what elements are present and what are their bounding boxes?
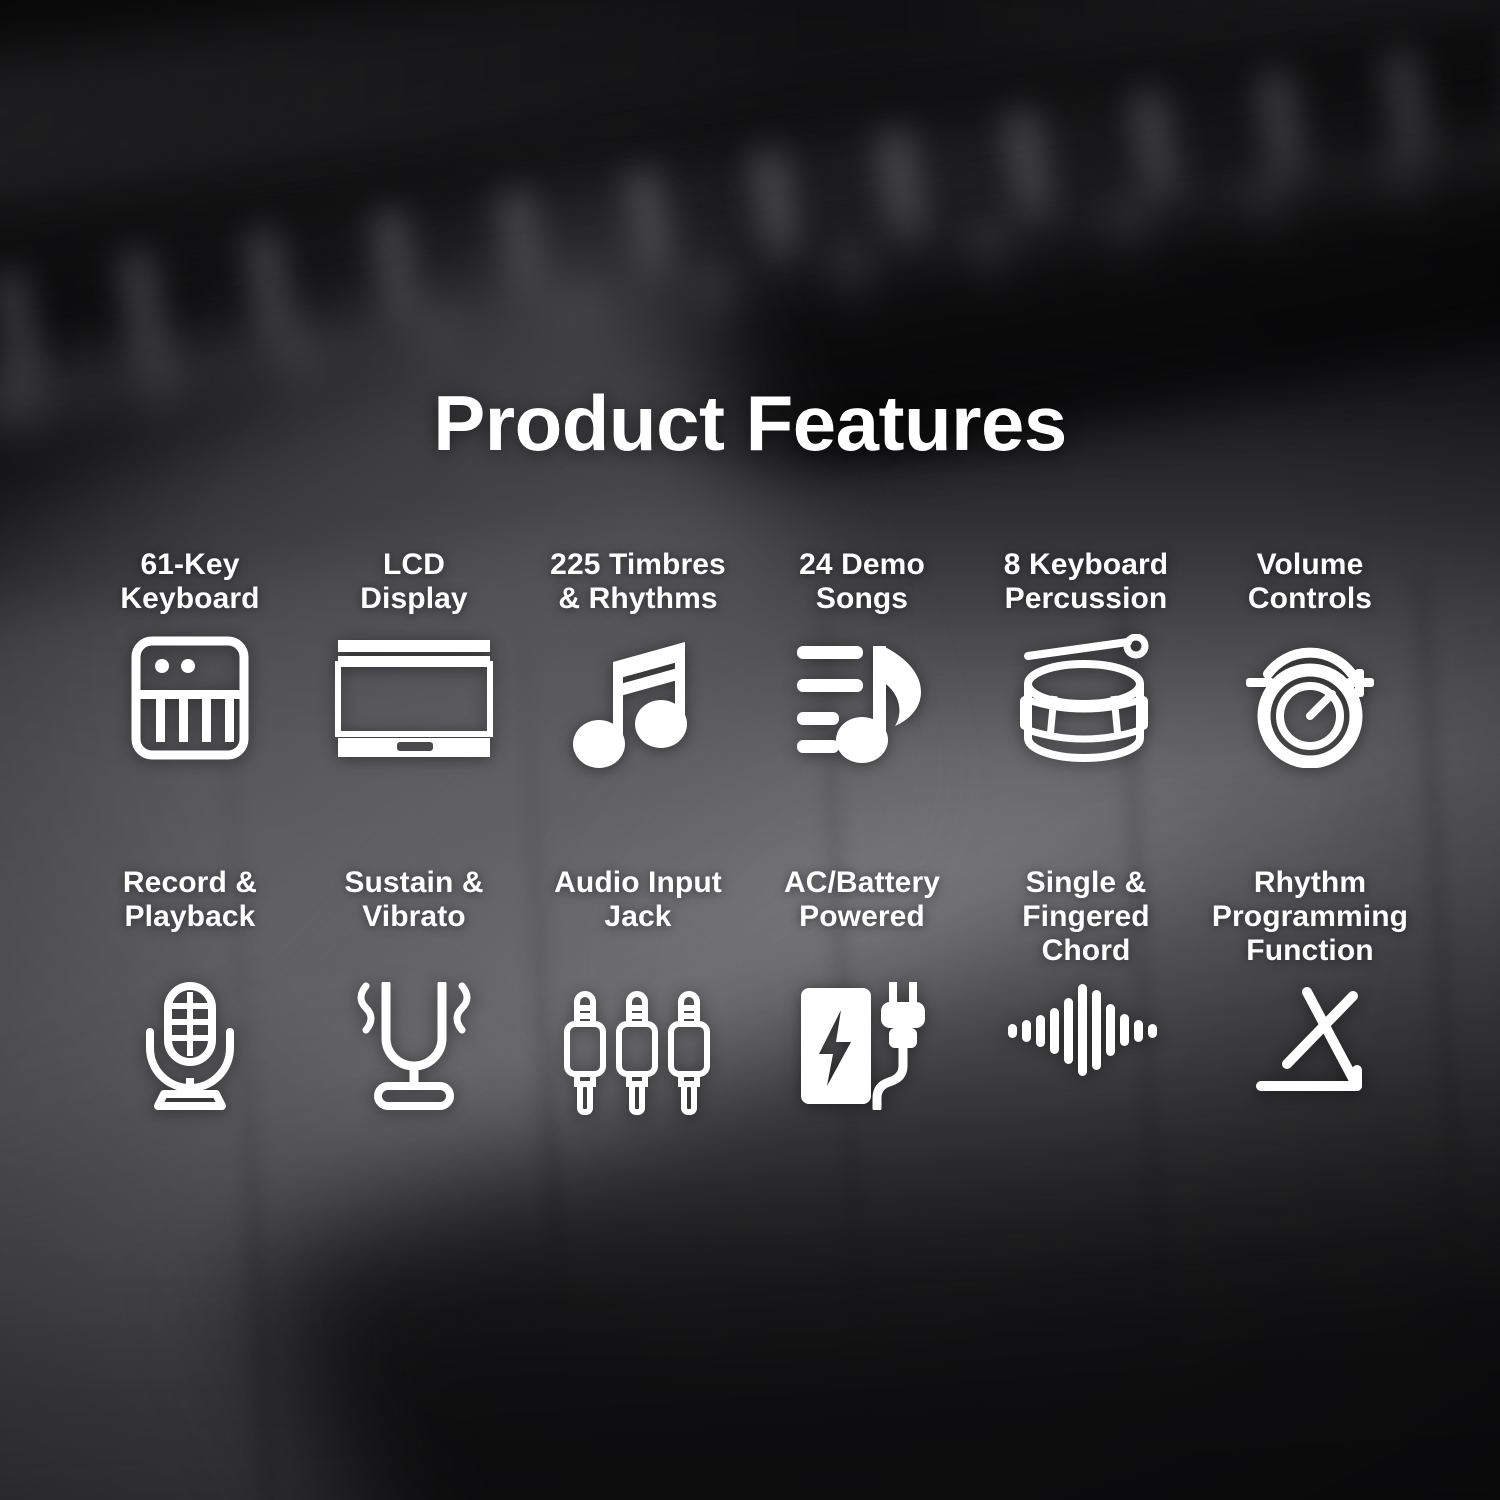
piano-keyboard-icon bbox=[129, 634, 251, 784]
page-title: Product Features bbox=[0, 378, 1500, 469]
triangle-instrument-icon bbox=[1249, 982, 1371, 1132]
feature-item-keyboard-percussion: 8 Keyboard Percussion bbox=[974, 548, 1198, 784]
feature-grid-row-1: 61-Key Keyboard bbox=[78, 548, 1422, 784]
feature-label: Volume Controls bbox=[1248, 548, 1372, 620]
feature-label: 24 Demo Songs bbox=[799, 548, 925, 620]
audio-jack-plugs-icon bbox=[563, 982, 713, 1132]
feature-label: Record & Playback bbox=[123, 866, 257, 974]
feature-label: 8 Keyboard Percussion bbox=[1004, 548, 1168, 620]
product-features-infographic: Product Features 61-Key Keyboard bbox=[0, 0, 1500, 1500]
feature-label: Rhythm Programming Function bbox=[1212, 866, 1408, 974]
feature-item-audio-input-jack: Audio Input Jack bbox=[526, 866, 750, 1132]
feature-item-single-fingered-chord: Single & Fingered Chord bbox=[974, 866, 1198, 1132]
feature-item-61-key-keyboard: 61-Key Keyboard bbox=[78, 548, 302, 784]
feature-item-record-playback: Record & Playback bbox=[78, 866, 302, 1132]
feature-label: LCD Display bbox=[360, 548, 467, 620]
feature-item-demo-songs: 24 Demo Songs bbox=[750, 548, 974, 784]
feature-item-volume-controls: Volume Controls bbox=[1198, 548, 1422, 784]
song-playlist-icon bbox=[795, 634, 929, 784]
feature-item-timbres-rhythms: 225 Timbres & Rhythms bbox=[526, 548, 750, 784]
feature-label: Single & Fingered Chord bbox=[1022, 866, 1149, 974]
snare-drum-icon bbox=[1016, 634, 1156, 784]
feature-label: 61-Key Keyboard bbox=[120, 548, 259, 620]
feature-item-rhythm-programming: Rhythm Programming Function bbox=[1198, 866, 1422, 1132]
feature-label: Sustain & Vibrato bbox=[344, 866, 483, 974]
beamed-music-notes-icon bbox=[573, 634, 703, 784]
feature-label: Audio Input Jack bbox=[554, 866, 722, 974]
volume-knob-icon bbox=[1242, 634, 1378, 784]
sound-waveform-icon bbox=[1008, 982, 1164, 1132]
feature-item-ac-battery-powered: AC/Battery Powered bbox=[750, 866, 974, 1132]
feature-item-sustain-vibrato: Sustain & Vibrato bbox=[302, 866, 526, 1132]
feature-item-lcd-display: LCD Display bbox=[302, 548, 526, 784]
microphone-icon bbox=[130, 982, 250, 1132]
battery-power-plug-icon bbox=[797, 982, 927, 1132]
lcd-display-icon bbox=[333, 634, 495, 784]
feature-grid-row-2: Record & Playback bbox=[78, 866, 1422, 1132]
feature-label: AC/Battery Powered bbox=[784, 866, 940, 974]
tuning-fork-vibrato-icon bbox=[348, 982, 480, 1132]
feature-label: 225 Timbres & Rhythms bbox=[550, 548, 726, 620]
